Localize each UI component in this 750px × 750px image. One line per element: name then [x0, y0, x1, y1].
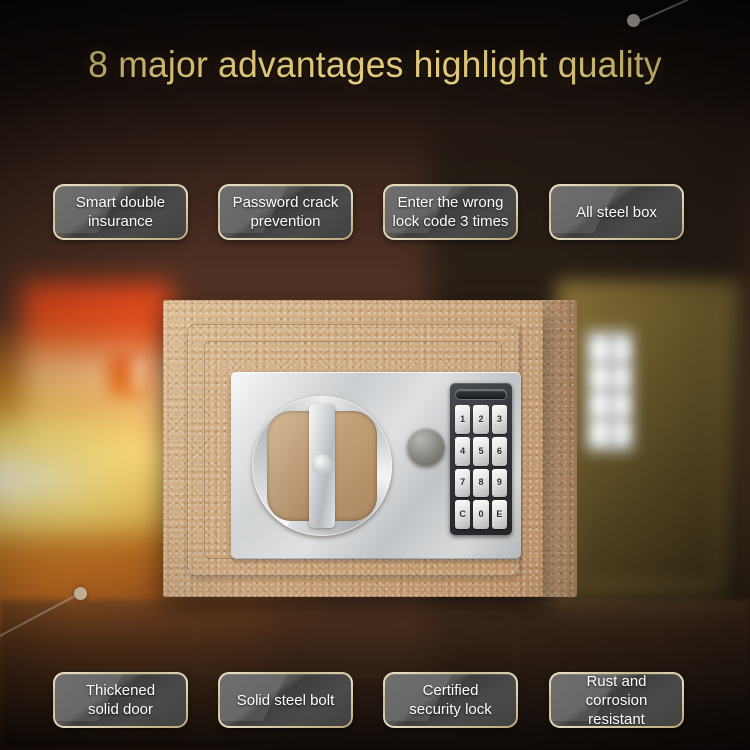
feature-badge-all-steel-box[interactable]: All steel box [549, 184, 684, 240]
lock-center-knob [312, 454, 332, 476]
keypad-display [455, 389, 507, 400]
feature-badge-certified-security-lock[interactable]: Certified security lock [383, 672, 518, 728]
feature-badge-label: Solid steel bolt [231, 691, 341, 710]
feature-badge-rust-corrosion-resistant[interactable]: Rust and corrosion resistant [549, 672, 684, 728]
keypad-key-0[interactable]: 0 [473, 500, 488, 529]
keypad-key-2[interactable]: 2 [473, 405, 488, 434]
keypad-key-1[interactable]: 1 [455, 405, 470, 434]
keypad-key-7[interactable]: 7 [455, 469, 470, 498]
feature-badge-smart-double-insurance[interactable]: Smart double insurance [53, 184, 188, 240]
feature-badge-label: Rust and corrosion resistant [551, 674, 682, 726]
keypad-key-5[interactable]: 5 [473, 437, 488, 466]
lock-handle[interactable] [252, 396, 392, 536]
keypad-key-8[interactable]: 8 [473, 469, 488, 498]
background-blurred-keypad-keys [592, 338, 629, 444]
keypad-key-clear[interactable]: C [455, 500, 470, 529]
lock-cutout-right [329, 411, 377, 521]
background-title-scrim [0, 0, 750, 175]
feature-badge-password-crack-prevention[interactable]: Password crack prevention [218, 184, 353, 240]
keypad-key-9[interactable]: 9 [492, 469, 507, 498]
keypad-panel[interactable]: 1 2 3 4 5 6 7 8 9 C 0 E [450, 383, 512, 535]
keypad-key-grid: 1 2 3 4 5 6 7 8 9 C 0 E [455, 405, 507, 529]
feature-badge-label: Thickened solid door [80, 681, 161, 719]
feature-badge-solid-steel-bolt[interactable]: Solid steel bolt [218, 672, 353, 728]
feature-badge-label: Password crack prevention [227, 193, 345, 231]
feature-badge-label: All steel box [570, 203, 663, 222]
product-banner: 8 major advantages highlight quality [0, 0, 750, 750]
safe-front-body: 1 2 3 4 5 6 7 8 9 C 0 E [163, 300, 543, 597]
feature-badge-label: Certified security lock [403, 681, 498, 719]
override-knob[interactable] [407, 428, 445, 466]
lock-cutout-left [267, 411, 315, 521]
feature-badge-thickened-solid-door[interactable]: Thickened solid door [53, 672, 188, 728]
feature-badge-enter-wrong-lock-code[interactable]: Enter the wrong lock code 3 times [383, 184, 518, 240]
keypad-key-4[interactable]: 4 [455, 437, 470, 466]
safe-faceplate: 1 2 3 4 5 6 7 8 9 C 0 E [231, 372, 521, 559]
feature-badge-label: Smart double insurance [70, 193, 171, 231]
safe-door[interactable]: 1 2 3 4 5 6 7 8 9 C 0 E [187, 324, 519, 576]
deco-dot-top-right [627, 14, 640, 27]
deco-dot-bottom-left [74, 587, 87, 600]
keypad-key-enter[interactable]: E [492, 500, 507, 529]
feature-badge-label: Enter the wrong lock code 3 times [387, 193, 515, 231]
keypad-key-6[interactable]: 6 [492, 437, 507, 466]
safe-box: 1 2 3 4 5 6 7 8 9 C 0 E [163, 300, 577, 597]
product-reflection-door-outline [196, 612, 516, 674]
page-title: 8 major advantages highlight quality [15, 44, 735, 86]
keypad-key-3[interactable]: 3 [492, 405, 507, 434]
